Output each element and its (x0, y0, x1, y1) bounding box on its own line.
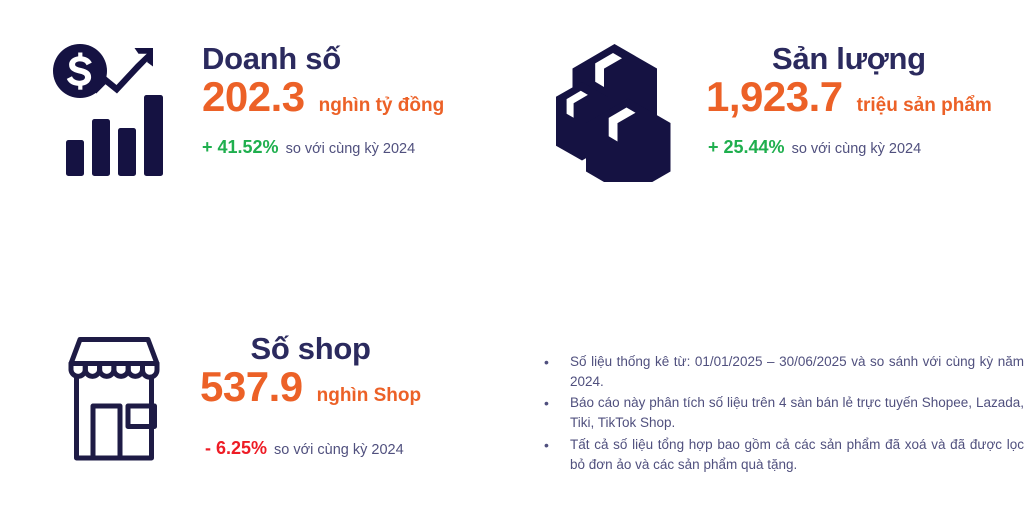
kpi-value: 202.3 (202, 75, 305, 120)
kpi-text-block: Sản lượng 1,923.7 triệu sản phẩm + 25.44… (706, 40, 992, 158)
list-item: • Tất cả số liệu tổng hợp bao gồm cả các… (536, 435, 1024, 474)
kpi-value-row: 537.9 nghìn Shop (200, 365, 421, 410)
kpi-unit: nghìn tỷ đồng (319, 95, 445, 117)
kpi-text-block: Doanh số 202.3 nghìn tỷ đồng + 41.52% so… (202, 40, 444, 158)
footnotes-list: • Số liệu thống kê từ: 01/01/2025 – 30/0… (536, 352, 1024, 476)
kpi-value: 537.9 (200, 365, 303, 410)
kpi-delta-value: - 6.25% (205, 438, 267, 459)
kpi-compare-label: so với cùng kỳ 2024 (286, 141, 416, 157)
footnote-text: Báo cáo này phân tích số liệu trên 4 sàn… (570, 393, 1024, 432)
kpi-card-shops: Số shop 537.9 nghìn Shop - 6.25% so với … (50, 330, 421, 475)
kpi-compare-label: so với cùng kỳ 2024 (274, 442, 404, 458)
list-item: • Số liệu thống kê từ: 01/01/2025 – 30/0… (536, 352, 1024, 391)
kpi-value-row: 1,923.7 triệu sản phẩm (706, 75, 992, 120)
kpi-delta-value: + 25.44% (708, 137, 785, 158)
kpi-title: Doanh số (202, 42, 444, 75)
infographic-canvas: Doanh số 202.3 nghìn tỷ đồng + 41.52% so… (0, 0, 1024, 519)
kpi-text-block: Số shop 537.9 nghìn Shop - 6.25% so với … (200, 330, 421, 459)
kpi-card-revenue: Doanh số 202.3 nghìn tỷ đồng + 41.52% so… (52, 40, 444, 185)
kpi-delta-row: + 25.44% so với cùng kỳ 2024 (708, 137, 992, 158)
kpi-delta-row: - 6.25% so với cùng kỳ 2024 (205, 438, 421, 459)
bullet-icon: • (536, 352, 570, 372)
bullet-icon: • (536, 393, 570, 413)
kpi-card-volume: Sản lượng 1,923.7 triệu sản phẩm + 25.44… (556, 40, 992, 187)
boxes-icon (556, 40, 682, 187)
kpi-title: Số shop (200, 332, 421, 365)
kpi-compare-label: so với cùng kỳ 2024 (792, 141, 922, 157)
kpi-delta-value: + 41.52% (202, 137, 279, 158)
storefront-icon (50, 330, 178, 475)
footnote-text: Tất cả số liệu tổng hợp bao gồm cả các s… (570, 435, 1024, 474)
kpi-unit: nghìn Shop (317, 385, 421, 407)
bullet-icon: • (536, 435, 570, 455)
kpi-unit: triệu sản phẩm (857, 95, 992, 117)
list-item: • Báo cáo này phân tích số liệu trên 4 s… (536, 393, 1024, 432)
footnote-text: Số liệu thống kê từ: 01/01/2025 – 30/06/… (570, 352, 1024, 391)
kpi-title: Sản lượng (706, 42, 992, 75)
bar-chart-dollar-icon (52, 40, 182, 185)
kpi-value: 1,923.7 (706, 75, 843, 120)
kpi-delta-row: + 41.52% so với cùng kỳ 2024 (202, 137, 444, 158)
kpi-value-row: 202.3 nghìn tỷ đồng (202, 75, 444, 120)
